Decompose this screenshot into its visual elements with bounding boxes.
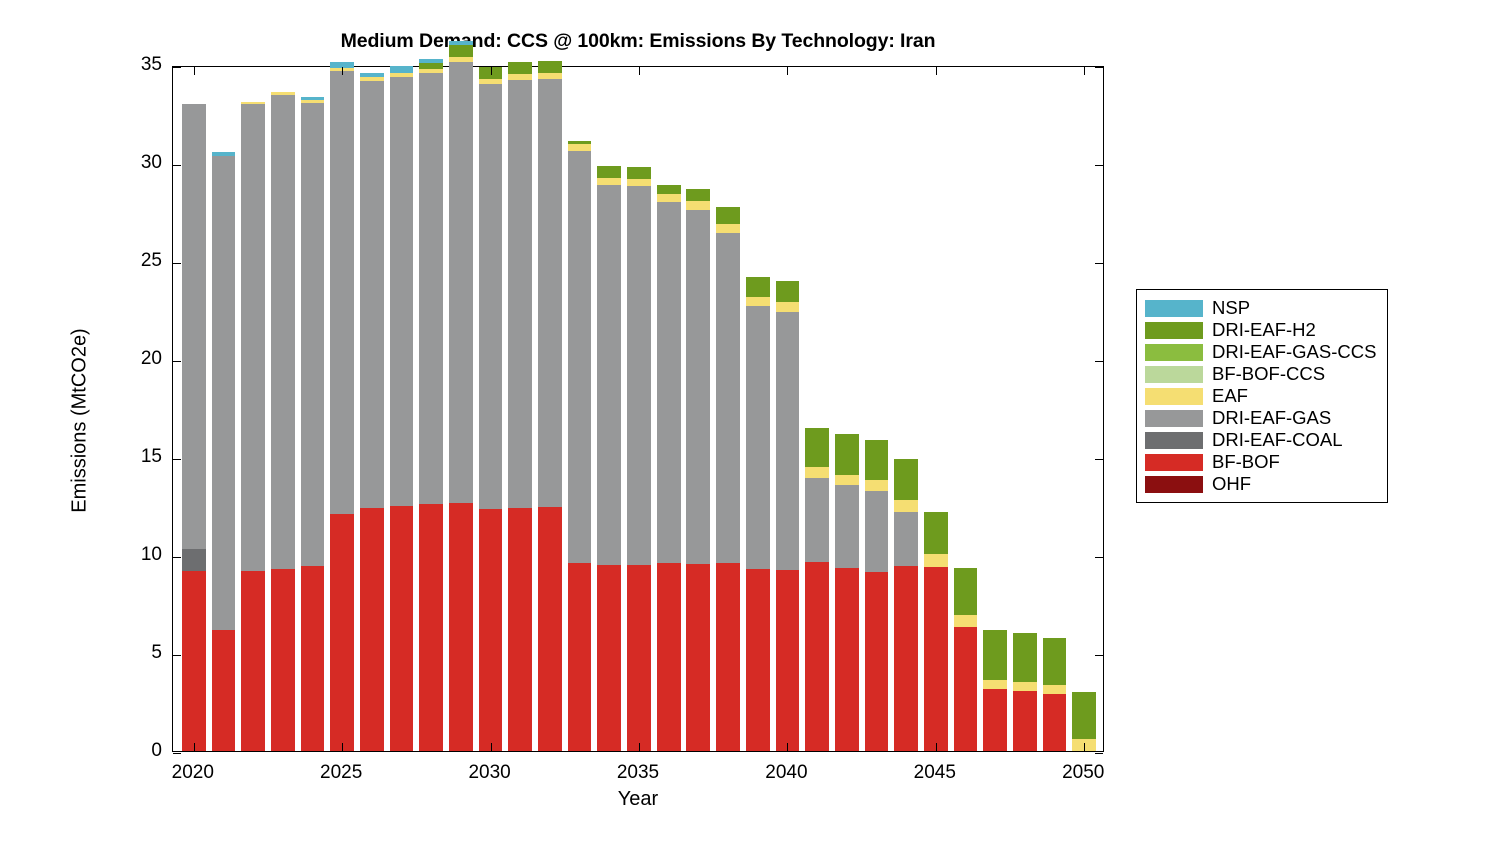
- legend-item-dri-eaf-gas[interactable]: DRI-EAF-GAS: [1145, 407, 1379, 429]
- bar-2028: [419, 59, 443, 751]
- bar-segment-dri-eaf-gas: [716, 233, 740, 563]
- bar-2039: [746, 277, 770, 751]
- bar-segment-eaf: [835, 475, 859, 486]
- bar-segment-dri-eaf-gas: [627, 186, 651, 565]
- bar-segment-bf-bof: [657, 563, 681, 751]
- bar-segment-dri-eaf-h2: [776, 281, 800, 303]
- bar-segment-bf-bof: [597, 565, 621, 751]
- bar-segment-eaf: [1013, 682, 1037, 691]
- bar-segment-dri-eaf-h2: [954, 568, 978, 615]
- bar-segment-nsp: [390, 66, 414, 73]
- y-tick-label-5: 5: [112, 642, 162, 664]
- y-tick-label-15: 15: [112, 446, 162, 468]
- bar-segment-bf-bof: [686, 564, 710, 751]
- bar-segment-eaf: [568, 144, 592, 151]
- bar-segment-bf-bof: [182, 571, 206, 751]
- bar-segment-dri-eaf-h2: [1013, 633, 1037, 682]
- bar-segment-bf-bof: [805, 562, 829, 751]
- legend-item-eaf[interactable]: EAF: [1145, 385, 1379, 407]
- bar-segment-bf-bof: [241, 571, 265, 751]
- bar-2037: [686, 188, 710, 751]
- bar-segment-dri-eaf-gas: [419, 73, 443, 504]
- y-tick-label-10: 10: [112, 544, 162, 566]
- bar-segment-dri-eaf-h2: [746, 277, 770, 298]
- y-axis-label: Emissions (MtCO2e): [69, 281, 92, 561]
- bar-segment-eaf: [390, 73, 414, 77]
- legend-label: BF-BOF-CCS: [1212, 365, 1325, 384]
- y-tick-10: [173, 557, 181, 558]
- bar-segment-eaf: [983, 680, 1007, 689]
- bar-segment-dri-eaf-gas: [479, 84, 503, 509]
- bar-segment-nsp: [419, 59, 443, 63]
- bar-2047: [983, 629, 1007, 751]
- bar-segment-dri-eaf-gas: [686, 210, 710, 564]
- bar-segment-eaf: [924, 554, 948, 567]
- bar-segment-dri-eaf-gas: [271, 95, 295, 568]
- bar-segment-bf-bof: [746, 569, 770, 751]
- bar-segment-dri-eaf-gas: [746, 306, 770, 569]
- legend-swatch-icon: [1145, 410, 1203, 427]
- bar-segment-eaf: [419, 69, 443, 73]
- bar-segment-dri-eaf-h2: [449, 45, 473, 57]
- bar-segment-bf-bof: [271, 569, 295, 751]
- bar-segment-eaf: [241, 102, 265, 104]
- legend-label: DRI-EAF-COAL: [1212, 431, 1343, 450]
- bar-segment-dri-eaf-gas: [390, 77, 414, 506]
- x-tick-2035: [639, 743, 640, 751]
- x-tick-label-2030: 2030: [450, 762, 530, 784]
- x-tick-2040: [787, 67, 788, 75]
- bar-segment-eaf: [805, 467, 829, 478]
- bar-2043: [865, 440, 889, 751]
- y-tick-35: [1095, 67, 1103, 68]
- bar-segment-dri-eaf-h2: [983, 630, 1007, 681]
- bar-segment-dri-eaf-gas: [182, 104, 206, 549]
- y-tick-label-25: 25: [112, 250, 162, 272]
- y-tick-35: [173, 67, 181, 68]
- bar-segment-dri-eaf-h2: [508, 62, 532, 74]
- bar-2046: [954, 568, 978, 751]
- legend-label: DRI-EAF-GAS: [1212, 409, 1331, 428]
- y-tick-30: [1095, 165, 1103, 166]
- bar-2033: [568, 141, 592, 751]
- bar-segment-eaf: [865, 480, 889, 492]
- bar-segment-bf-bof: [568, 563, 592, 751]
- bar-segment-dri-eaf-h2: [835, 434, 859, 474]
- y-tick-25: [173, 263, 181, 264]
- bar-segment-nsp: [212, 152, 236, 156]
- x-tick-2025: [342, 743, 343, 751]
- bar-2020: [182, 104, 206, 751]
- bar-segment-dri-eaf-h2: [627, 167, 651, 179]
- bar-segment-eaf: [686, 201, 710, 210]
- bar-segment-dri-eaf-gas: [330, 71, 354, 514]
- x-tick-label-2025: 2025: [301, 762, 381, 784]
- bar-segment-nsp: [301, 97, 325, 100]
- bars-layer: [173, 67, 1103, 751]
- bar-2031: [508, 62, 532, 751]
- legend-item-dri-eaf-gas-ccs[interactable]: DRI-EAF-GAS-CCS: [1145, 341, 1379, 363]
- bar-2027: [390, 66, 414, 751]
- x-tick-2025: [342, 67, 343, 75]
- y-tick-0: [173, 753, 181, 754]
- x-tick-label-2040: 2040: [746, 762, 826, 784]
- bar-segment-bf-bof: [894, 566, 918, 751]
- bar-2029: [449, 41, 473, 752]
- y-tick-label-20: 20: [112, 348, 162, 370]
- bar-segment-dri-eaf-gas: [835, 485, 859, 567]
- y-tick-25: [1095, 263, 1103, 264]
- bar-segment-eaf: [301, 100, 325, 103]
- bar-2032: [538, 61, 562, 751]
- bar-segment-bf-bof: [924, 567, 948, 751]
- legend-swatch-icon: [1145, 432, 1203, 449]
- y-tick-30: [173, 165, 181, 166]
- y-tick-label-30: 30: [112, 152, 162, 174]
- bar-2023: [271, 92, 295, 751]
- y-tick-10: [1095, 557, 1103, 558]
- legend-swatch-icon: [1145, 344, 1203, 361]
- bar-segment-dri-eaf-gas: [865, 491, 889, 571]
- legend-label: BF-BOF: [1212, 453, 1280, 472]
- x-tick-2045: [936, 67, 937, 75]
- bar-segment-bf-bof: [538, 507, 562, 751]
- bar-segment-dri-eaf-h2: [1072, 692, 1096, 739]
- bar-segment-nsp: [449, 41, 473, 46]
- bar-2040: [776, 281, 800, 751]
- bar-segment-bf-bof: [716, 563, 740, 751]
- legend-item-ohf[interactable]: OHF: [1145, 473, 1379, 495]
- y-tick-label-35: 35: [112, 54, 162, 76]
- bar-segment-nsp: [360, 73, 384, 77]
- bar-segment-bf-bof: [330, 514, 354, 751]
- x-tick-2020: [194, 67, 195, 75]
- legend: NSPDRI-EAF-H2DRI-EAF-GAS-CCSBF-BOF-CCSEA…: [1136, 289, 1388, 503]
- plot-area: [172, 66, 1104, 752]
- bar-2038: [716, 207, 740, 751]
- x-tick-2035: [639, 67, 640, 75]
- bar-segment-dri-eaf-gas: [538, 79, 562, 507]
- bar-segment-dri-eaf-gas: [657, 202, 681, 563]
- bar-2048: [1013, 633, 1037, 751]
- bar-segment-bf-bof: [301, 566, 325, 751]
- bar-segment-dri-eaf-gas: [241, 104, 265, 570]
- bar-segment-dri-eaf-gas: [805, 478, 829, 562]
- bar-segment-bf-bof: [508, 508, 532, 751]
- x-tick-2050: [1084, 743, 1085, 751]
- bar-segment-dri-eaf-gas: [301, 103, 325, 566]
- bar-segment-bf-bof: [835, 568, 859, 751]
- y-tick-label-0: 0: [112, 740, 162, 762]
- bar-segment-dri-eaf-gas: [508, 80, 532, 508]
- bar-segment-dri-eaf-gas: [597, 185, 621, 565]
- legend-swatch-icon: [1145, 476, 1203, 493]
- bar-2021: [212, 152, 236, 751]
- bar-segment-eaf: [657, 194, 681, 202]
- bar-segment-bf-bof: [449, 503, 473, 751]
- bar-segment-bf-bof: [419, 504, 443, 751]
- bar-segment-bf-bof: [1013, 691, 1037, 751]
- bar-segment-dri-eaf-gas: [360, 81, 384, 508]
- bar-segment-eaf: [746, 297, 770, 306]
- bar-segment-eaf: [776, 302, 800, 312]
- legend-swatch-icon: [1145, 366, 1203, 383]
- bar-segment-eaf: [627, 179, 651, 186]
- legend-swatch-icon: [1145, 300, 1203, 317]
- bar-2044: [894, 459, 918, 751]
- bar-2030: [479, 67, 503, 751]
- bar-segment-dri-eaf-h2: [894, 459, 918, 500]
- y-tick-5: [173, 655, 181, 656]
- bar-segment-dri-eaf-h2: [805, 428, 829, 467]
- bar-segment-bf-bof: [212, 630, 236, 751]
- bar-segment-eaf: [1043, 685, 1067, 694]
- legend-label: OHF: [1212, 475, 1251, 494]
- bar-segment-dri-eaf-h2: [1043, 638, 1067, 685]
- bar-2034: [597, 166, 621, 751]
- bar-segment-eaf: [538, 73, 562, 79]
- bar-2022: [241, 102, 265, 751]
- x-tick-2045: [936, 743, 937, 751]
- bar-segment-bf-bof: [776, 570, 800, 751]
- y-tick-0: [1095, 753, 1103, 754]
- y-tick-15: [1095, 459, 1103, 460]
- legend-swatch-icon: [1145, 388, 1203, 405]
- y-tick-20: [173, 361, 181, 362]
- bar-2042: [835, 434, 859, 751]
- x-axis-label: Year: [172, 788, 1104, 811]
- bar-segment-dri-eaf-h2: [538, 61, 562, 73]
- x-tick-label-2045: 2045: [895, 762, 975, 784]
- bar-2024: [301, 97, 325, 751]
- bar-segment-dri-eaf-h2: [924, 512, 948, 554]
- y-tick-15: [173, 459, 181, 460]
- bar-segment-dri-eaf-h2: [568, 141, 592, 144]
- legend-label: DRI-EAF-H2: [1212, 321, 1316, 340]
- bar-segment-bf-bof: [479, 509, 503, 751]
- legend-swatch-icon: [1145, 322, 1203, 339]
- bar-segment-eaf: [954, 615, 978, 627]
- bar-2036: [657, 185, 681, 751]
- bar-segment-dri-eaf-h2: [716, 207, 740, 224]
- bar-segment-eaf: [597, 178, 621, 185]
- x-tick-2030: [491, 67, 492, 75]
- legend-item-bf-bof-ccs[interactable]: BF-BOF-CCS: [1145, 363, 1379, 385]
- x-tick-label-2020: 2020: [153, 762, 233, 784]
- bar-segment-dri-eaf-gas: [212, 156, 236, 630]
- bar-segment-bf-bof: [954, 627, 978, 751]
- bar-segment-eaf: [894, 500, 918, 512]
- y-tick-20: [1095, 361, 1103, 362]
- bar-2035: [627, 167, 651, 751]
- x-tick-2030: [491, 743, 492, 751]
- bar-segment-eaf: [449, 57, 473, 62]
- x-tick-label-2035: 2035: [598, 762, 678, 784]
- bar-segment-dri-eaf-gas: [776, 312, 800, 570]
- bar-segment-eaf: [716, 224, 740, 233]
- x-tick-2040: [787, 743, 788, 751]
- chart-figure: Medium Demand: CCS @ 100km: Emissions By…: [0, 0, 1500, 844]
- legend-label: DRI-EAF-GAS-CCS: [1212, 343, 1376, 362]
- y-tick-5: [1095, 655, 1103, 656]
- x-tick-2050: [1084, 67, 1085, 75]
- bar-segment-dri-eaf-h2: [865, 440, 889, 479]
- legend-item-nsp[interactable]: NSP: [1145, 297, 1379, 319]
- bar-segment-eaf: [479, 79, 503, 84]
- bar-segment-bf-bof: [390, 506, 414, 751]
- bar-2026: [360, 73, 384, 751]
- bar-2041: [805, 428, 829, 751]
- bar-segment-dri-eaf-gas: [568, 151, 592, 563]
- legend-label: EAF: [1212, 387, 1248, 406]
- legend-item-dri-eaf-coal[interactable]: DRI-EAF-COAL: [1145, 429, 1379, 451]
- bar-2025: [330, 62, 354, 751]
- bar-2049: [1043, 638, 1067, 751]
- bar-segment-dri-eaf-h2: [419, 63, 443, 69]
- bar-segment-eaf: [508, 74, 532, 80]
- bar-segment-bf-bof: [865, 572, 889, 751]
- bar-segment-dri-eaf-h2: [597, 166, 621, 178]
- x-tick-2020: [194, 743, 195, 751]
- page-title: Medium Demand: CCS @ 100km: Emissions By…: [172, 30, 1104, 53]
- bar-segment-bf-bof: [983, 689, 1007, 751]
- bar-segment-dri-eaf-gas: [449, 62, 473, 503]
- bar-segment-dri-eaf-coal: [182, 549, 206, 571]
- legend-swatch-icon: [1145, 454, 1203, 471]
- x-tick-label-2050: 2050: [1043, 762, 1123, 784]
- legend-label: NSP: [1212, 299, 1250, 318]
- bar-segment-bf-bof: [360, 508, 384, 751]
- bar-2045: [924, 512, 948, 751]
- bar-segment-bf-bof: [1043, 694, 1067, 751]
- bar-segment-dri-eaf-h2: [657, 185, 681, 195]
- bar-segment-dri-eaf-gas: [894, 512, 918, 566]
- bar-segment-eaf: [360, 77, 384, 81]
- bar-segment-bf-bof: [627, 565, 651, 751]
- bar-segment-eaf: [271, 92, 295, 95]
- bar-segment-dri-eaf-h2: [686, 189, 710, 202]
- legend-item-dri-eaf-h2[interactable]: DRI-EAF-H2: [1145, 319, 1379, 341]
- legend-item-bf-bof[interactable]: BF-BOF: [1145, 451, 1379, 473]
